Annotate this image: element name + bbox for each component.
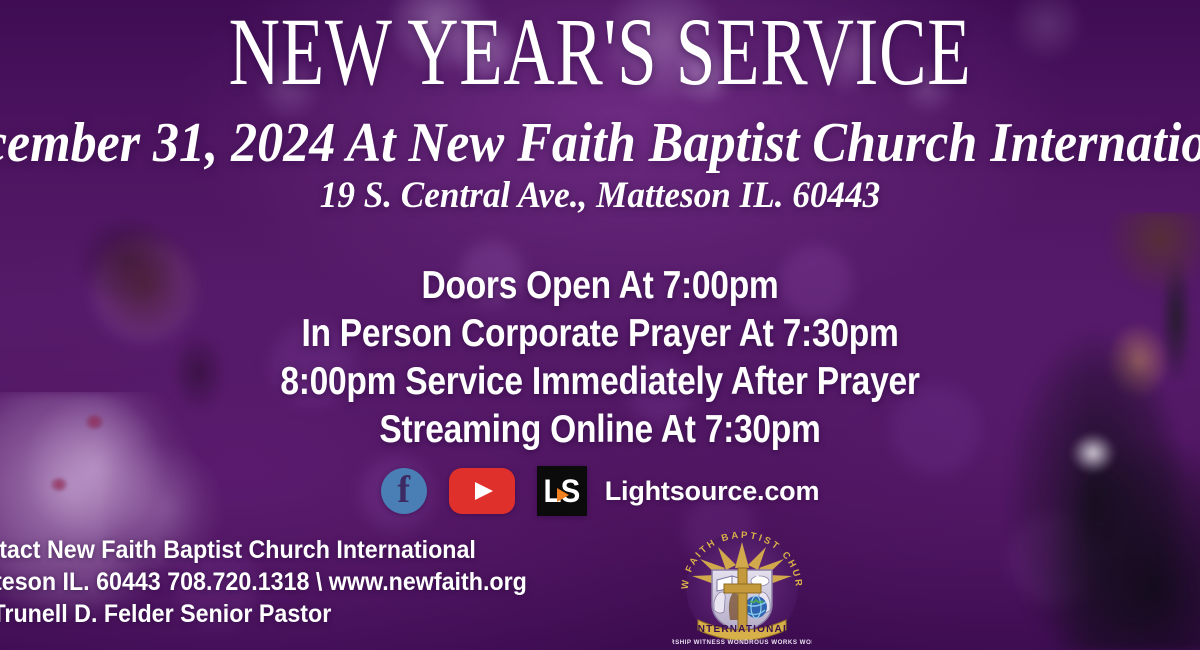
seal-banner-text: INTERNATIONAL xyxy=(694,624,791,635)
seal-globe-icon xyxy=(745,596,767,618)
schedule-item-doors-open: Doors Open At 7:00pm xyxy=(84,262,1116,310)
lightsource-link-label[interactable]: Lightsource.com xyxy=(605,476,820,506)
contact-line-pastor: Dr. Trunell D. Felder Senior Pastor xyxy=(0,598,527,630)
lightsource-icon[interactable]: LS xyxy=(537,466,587,516)
contact-line-church: Contact New Faith Baptist Church Interna… xyxy=(0,534,527,566)
contact-line-address-phone-web: Matteson IL. 60443 708.720.1318 \ www.ne… xyxy=(0,566,527,598)
event-date-line: December 31, 2024 At New Faith Baptist C… xyxy=(0,112,1200,174)
church-seal-logo: INTERNATIONAL NEW FAITH BAPTIST CHURCH W… xyxy=(672,528,812,646)
schedule-list: Doors Open At 7:00pm In Person Corporate… xyxy=(0,262,1200,454)
seal-motto-text: WORSHIP WITNESS WONDROUS WORKS WORLD xyxy=(672,639,812,646)
play-triangle-icon xyxy=(557,488,569,502)
social-links-row: LS Lightsource.com xyxy=(0,466,1200,516)
schedule-item-corporate-prayer: In Person Corporate Prayer At 7:30pm xyxy=(84,310,1116,358)
schedule-item-streaming: Streaming Online At 7:30pm xyxy=(84,406,1116,454)
schedule-item-service: 8:00pm Service Immediately After Prayer xyxy=(84,358,1116,406)
contact-block: Contact New Faith Baptist Church Interna… xyxy=(0,534,570,630)
youtube-icon[interactable] xyxy=(449,468,515,514)
new-years-service-flyer: NEW YEAR'S SERVICE December 31, 2024 At … xyxy=(0,0,1200,650)
page-title: NEW YEAR'S SERVICE xyxy=(156,2,1044,102)
facebook-icon[interactable] xyxy=(381,468,427,514)
event-address-line: 19 S. Central Ave., Matteson IL. 60443 xyxy=(30,174,1170,218)
